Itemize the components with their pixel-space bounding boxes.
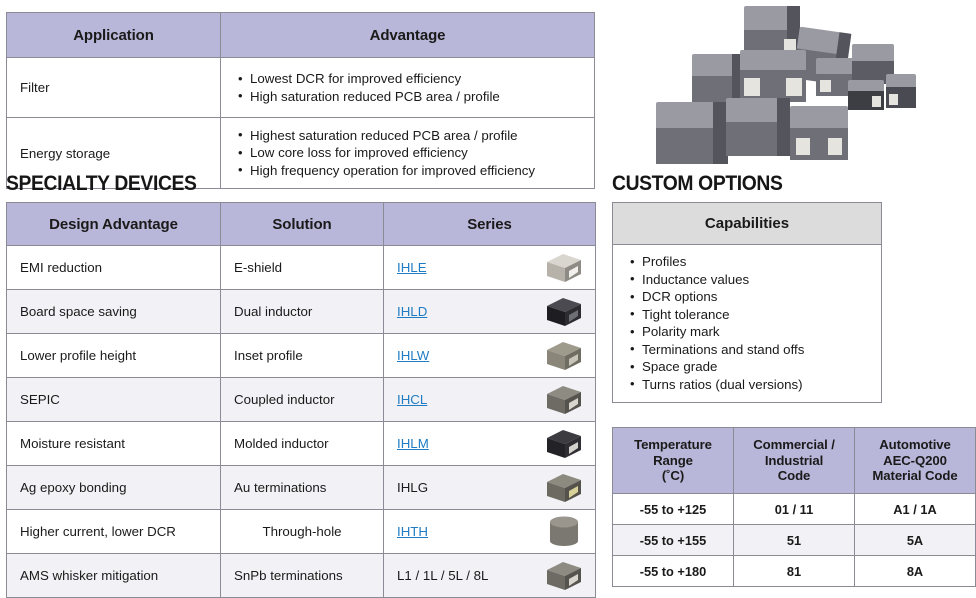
cell-commercial-code: 51 <box>734 525 855 556</box>
cell-automotive-code: A1 / 1A <box>855 494 976 525</box>
table-row: EMI reductionE-shieldIHLE <box>7 246 596 290</box>
table-row: Lower profile heightInset profileIHLW <box>7 334 596 378</box>
inductor-chip <box>692 54 744 104</box>
table-row: AMS whisker mitigationSnPb terminationsL… <box>7 554 596 598</box>
column-header-advantage: Advantage <box>221 13 595 58</box>
inductor-chip <box>790 106 848 160</box>
advantage-list: Lowest DCR for improved efficiency High … <box>221 70 588 105</box>
cell-design-advantage: Moisture resistant <box>7 422 221 466</box>
product-thumbnail-black-dual <box>541 293 587 331</box>
cell-commercial-code: 81 <box>734 556 855 587</box>
product-thumbnail-gray-cube <box>541 381 587 419</box>
temperature-code-table: TemperatureRange(˚C)Commercial /Industri… <box>612 427 976 587</box>
cell-series: L1 / 1L / 5L / 8L <box>384 554 596 598</box>
table-row: -55 to +180818A <box>613 556 976 587</box>
cell-series: IHTH <box>384 510 596 554</box>
cell-automotive-code: 8A <box>855 556 976 587</box>
list-item: Low core loss for improved efficiency <box>238 144 588 162</box>
cell-temperature-range: -55 to +155 <box>613 525 734 556</box>
series-link[interactable]: IHLM <box>397 436 429 451</box>
cell-solution: Inset profile <box>221 334 384 378</box>
column-header-capabilities: Capabilities <box>613 203 882 245</box>
table-header-row: Application Advantage <box>7 13 595 58</box>
cell-solution: Au terminations <box>221 466 384 510</box>
cell-series: IHLD <box>384 290 596 334</box>
list-item: High saturation reduced PCB area / profi… <box>238 88 588 106</box>
list-item: Tight tolerance <box>630 306 877 324</box>
cell-series: IHCL <box>384 378 596 422</box>
table-row: Board space savingDual inductorIHLD <box>7 290 596 334</box>
cell-design-advantage: AMS whisker mitigation <box>7 554 221 598</box>
inductor-chip <box>886 74 916 108</box>
series-label: IHLG <box>397 480 428 495</box>
cell-series: IHLE <box>384 246 596 290</box>
cell-design-advantage: Lower profile height <box>7 334 221 378</box>
cell-design-advantage: SEPIC <box>7 378 221 422</box>
product-thumbnail-light-can <box>541 249 587 287</box>
table-row: -55 to +155515A <box>613 525 976 556</box>
cell-design-advantage: Board space saving <box>7 290 221 334</box>
inductor-chip <box>726 98 790 156</box>
product-thumbnail-gray-cube <box>541 557 587 595</box>
table-header-row: Design Advantage Solution Series <box>7 203 596 246</box>
specialty-devices-table: Design Advantage Solution Series EMI red… <box>6 202 596 598</box>
inductor-chip <box>656 102 728 164</box>
inductor-chip <box>740 50 806 102</box>
capabilities-table: Capabilities ProfilesInductance valuesDC… <box>612 202 882 403</box>
list-item: Highest saturation reduced PCB area / pr… <box>238 127 588 145</box>
inductor-chip <box>848 80 884 110</box>
product-thumbnail-gold-term <box>541 469 587 507</box>
list-item: Polarity mark <box>630 323 877 341</box>
table-row: -55 to +12501 / 11A1 / 1A <box>613 494 976 525</box>
table-row: Ag epoxy bondingAu terminationsIHLG <box>7 466 596 510</box>
list-item: DCR options <box>630 288 877 306</box>
column-header-application: Application <box>7 13 221 58</box>
advantage-list: Highest saturation reduced PCB area / pr… <box>221 127 588 180</box>
series-link[interactable]: IHCL <box>397 392 427 407</box>
list-item: Profiles <box>630 253 877 271</box>
series-link[interactable]: IHLE <box>397 260 427 275</box>
cell-temperature-range: -55 to +180 <box>613 556 734 587</box>
series-link[interactable]: IHLW <box>397 348 429 363</box>
cell-capabilities: ProfilesInductance valuesDCR optionsTigh… <box>613 245 882 403</box>
cell-design-advantage: Ag epoxy bonding <box>7 466 221 510</box>
cell-automotive-code: 5A <box>855 525 976 556</box>
table-row: Filter Lowest DCR for improved efficienc… <box>7 58 595 118</box>
application-advantage-table: Application Advantage Filter Lowest DCR … <box>6 12 595 189</box>
product-thumbnail-round-drum <box>541 513 587 551</box>
capabilities-list: ProfilesInductance valuesDCR optionsTigh… <box>613 253 877 393</box>
product-photo-inductor-cluster <box>648 2 976 167</box>
cell-solution: Dual inductor <box>221 290 384 334</box>
table-header-row: Capabilities <box>613 203 882 245</box>
cell-solution: Molded inductor <box>221 422 384 466</box>
cell-advantage: Highest saturation reduced PCB area / pr… <box>221 118 595 189</box>
column-header-temperature-range: TemperatureRange(˚C) <box>613 428 734 494</box>
product-thumbnail-tan-flat <box>541 337 587 375</box>
list-item: Space grade <box>630 358 877 376</box>
cell-design-advantage: Higher current, lower DCR <box>7 510 221 554</box>
page-title-custom-options: CUSTOM OPTIONS <box>612 172 783 196</box>
list-item: Turns ratios (dual versions) <box>630 376 877 394</box>
cell-series: IHLG <box>384 466 596 510</box>
cell-design-advantage: EMI reduction <box>7 246 221 290</box>
product-thumbnail-black-cube <box>541 425 587 463</box>
list-item: Inductance values <box>630 271 877 289</box>
column-header-automotive-material-code: AutomotiveAEC-Q200Material Code <box>855 428 976 494</box>
cell-solution: E-shield <box>221 246 384 290</box>
list-item: Terminations and stand offs <box>630 341 877 359</box>
series-link[interactable]: IHTH <box>397 524 428 539</box>
table-row: ProfilesInductance valuesDCR optionsTigh… <box>613 245 882 403</box>
column-header-commercial-industrial-code: Commercial /IndustrialCode <box>734 428 855 494</box>
series-link[interactable]: IHLD <box>397 304 427 319</box>
column-header-series: Series <box>384 203 596 246</box>
cell-solution: SnPb terminations <box>221 554 384 598</box>
list-item: Lowest DCR for improved efficiency <box>238 70 588 88</box>
series-label: L1 / 1L / 5L / 8L <box>397 568 488 583</box>
list-item: High frequency operation for improved ef… <box>238 162 588 180</box>
cell-series: IHLW <box>384 334 596 378</box>
column-header-solution: Solution <box>221 203 384 246</box>
column-header-design-advantage: Design Advantage <box>7 203 221 246</box>
table-header-row: TemperatureRange(˚C)Commercial /Industri… <box>613 428 976 494</box>
cell-solution: Coupled inductor <box>221 378 384 422</box>
table-row: Higher current, lower DCRThrough-holeIHT… <box>7 510 596 554</box>
cell-commercial-code: 01 / 11 <box>734 494 855 525</box>
table-row: SEPICCoupled inductorIHCL <box>7 378 596 422</box>
table-row: Moisture resistantMolded inductorIHLM <box>7 422 596 466</box>
cell-advantage: Lowest DCR for improved efficiency High … <box>221 58 595 118</box>
cell-solution: Through-hole <box>221 510 384 554</box>
cell-series: IHLM <box>384 422 596 466</box>
page-title-specialty-devices: SPECIALTY DEVICES <box>6 172 197 196</box>
cell-temperature-range: -55 to +125 <box>613 494 734 525</box>
cell-application: Filter <box>7 58 221 118</box>
